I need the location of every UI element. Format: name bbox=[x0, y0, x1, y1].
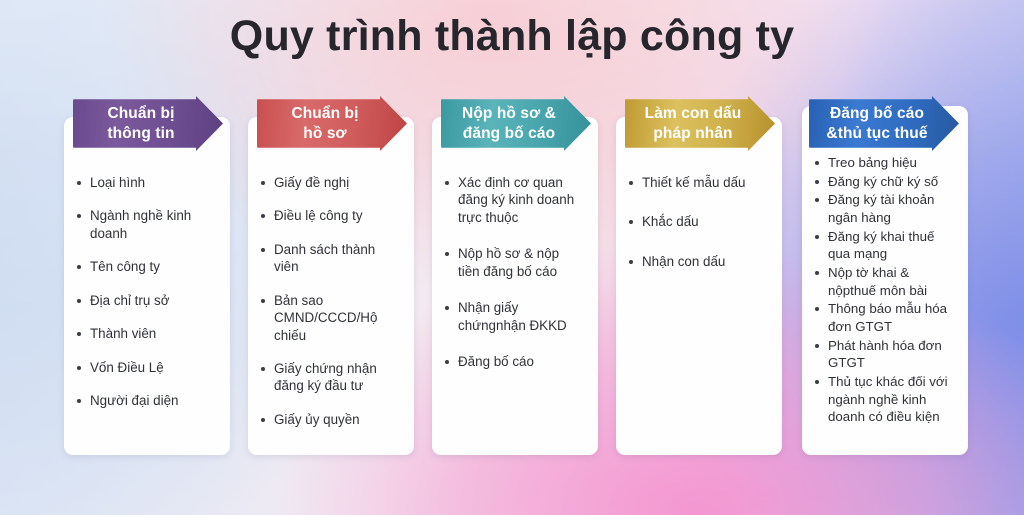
list-item: Địa chỉ trụ sở bbox=[76, 292, 216, 309]
list-item: Giấy chứng nhận đăng ký đầu tư bbox=[260, 360, 400, 395]
step-item-list-2: Giấy đề nghị Điều lệ công ty Danh sách t… bbox=[260, 174, 400, 444]
process-flow-board: Chuẩn bị thông tin Loại hình Ngành nghề … bbox=[58, 96, 978, 466]
list-item: Thông báo mẫu hóa đơn GTGT bbox=[814, 300, 952, 335]
list-item: Vốn Điều Lệ bbox=[76, 359, 216, 376]
step-item-list-3: Xác định cơ quan đăng ký kinh doanh trực… bbox=[444, 174, 584, 389]
process-step-column-4: Làm con dấu pháp nhân Thiết kế mẫu dấu K… bbox=[610, 96, 794, 466]
process-step-column-5: Đăng bố cáo &thủ tục thuế Treo bảng hiệu… bbox=[794, 96, 978, 466]
list-item: Điều lệ công ty bbox=[260, 207, 400, 224]
list-item: Danh sách thành viên bbox=[260, 241, 400, 276]
step-header-chuan-bi-thong-tin[interactable]: Chuẩn bị thông tin bbox=[73, 96, 223, 151]
step-header-lam-con-dau-phap-nhan[interactable]: Làm con dấu pháp nhân bbox=[625, 96, 775, 151]
step-header-line1: Nộp hồ sơ & bbox=[462, 104, 556, 123]
step-header-line1: Chuẩn bị bbox=[291, 104, 358, 123]
process-step-column-1: Chuẩn bị thông tin Loại hình Ngành nghề … bbox=[58, 96, 242, 466]
step-header-line2: đăng bố cáo bbox=[462, 124, 556, 143]
step-header-nop-ho-so-dang-bo-cao[interactable]: Nộp hồ sơ & đăng bố cáo bbox=[441, 96, 591, 151]
list-item: Ngành nghề kinh doanh bbox=[76, 207, 216, 242]
list-item: Giấy ủy quyền bbox=[260, 411, 400, 428]
page-title: Quy trình thành lập công ty bbox=[0, 12, 1024, 61]
list-item: Bản sao CMND/CCCD/Hộ chiếu bbox=[260, 292, 400, 344]
list-item: Thành viên bbox=[76, 325, 216, 342]
step-item-list-4: Thiết kế mẫu dấu Khắc dấu Nhận con dấu bbox=[628, 174, 768, 292]
step-header-chuan-bi-ho-so[interactable]: Chuẩn bị hồ sơ bbox=[257, 96, 407, 151]
step-header-line2: pháp nhân bbox=[645, 124, 742, 143]
list-item: Xác định cơ quan đăng ký kinh doanh trực… bbox=[444, 174, 584, 226]
list-item: Thủ tục khác đối với ngành nghề kinh doa… bbox=[814, 373, 952, 426]
list-item: Đăng bố cáo bbox=[444, 353, 584, 370]
step-header-line2: hồ sơ bbox=[291, 124, 358, 143]
list-item: Nộp tờ khai & nộpthuế môn bài bbox=[814, 264, 952, 299]
step-header-line2: &thủ tục thuế bbox=[826, 124, 927, 143]
list-item: Đăng ký tài khoản ngân hàng bbox=[814, 191, 952, 226]
list-item: Phát hành hóa đơn GTGT bbox=[814, 337, 952, 372]
step-header-dang-bo-cao-thu-tuc-thue[interactable]: Đăng bố cáo &thủ tục thuế bbox=[809, 96, 959, 151]
list-item: Đăng ký chữ ký số bbox=[814, 173, 952, 191]
list-item: Loại hình bbox=[76, 174, 216, 191]
list-item: Tên công ty bbox=[76, 258, 216, 275]
list-item: Nhận con dấu bbox=[628, 253, 768, 270]
list-item: Đăng ký khai thuế qua mạng bbox=[814, 228, 952, 263]
step-header-line1: Đăng bố cáo bbox=[826, 104, 927, 123]
list-item: Khắc dấu bbox=[628, 213, 768, 230]
list-item: Nộp hồ sơ & nộp tiền đăng bố cáo bbox=[444, 245, 584, 280]
step-header-line2: thông tin bbox=[107, 124, 174, 143]
list-item: Treo bảng hiệu bbox=[814, 154, 952, 172]
step-item-list-5: Treo bảng hiệu Đăng ký chữ ký số Đăng ký… bbox=[814, 154, 952, 427]
list-item: Người đại diện bbox=[76, 392, 216, 409]
list-item: Thiết kế mẫu dấu bbox=[628, 174, 768, 191]
step-header-line1: Chuẩn bị bbox=[107, 104, 174, 123]
step-item-list-1: Loại hình Ngành nghề kinh doanh Tên công… bbox=[76, 174, 216, 425]
process-step-column-2: Chuẩn bị hồ sơ Giấy đề nghị Điều lệ công… bbox=[242, 96, 426, 466]
step-header-line1: Làm con dấu bbox=[645, 104, 742, 123]
list-item: Nhận giấy chứngnhận ĐKKD bbox=[444, 299, 584, 334]
list-item: Giấy đề nghị bbox=[260, 174, 400, 191]
process-step-column-3: Nộp hồ sơ & đăng bố cáo Xác định cơ quan… bbox=[426, 96, 610, 466]
